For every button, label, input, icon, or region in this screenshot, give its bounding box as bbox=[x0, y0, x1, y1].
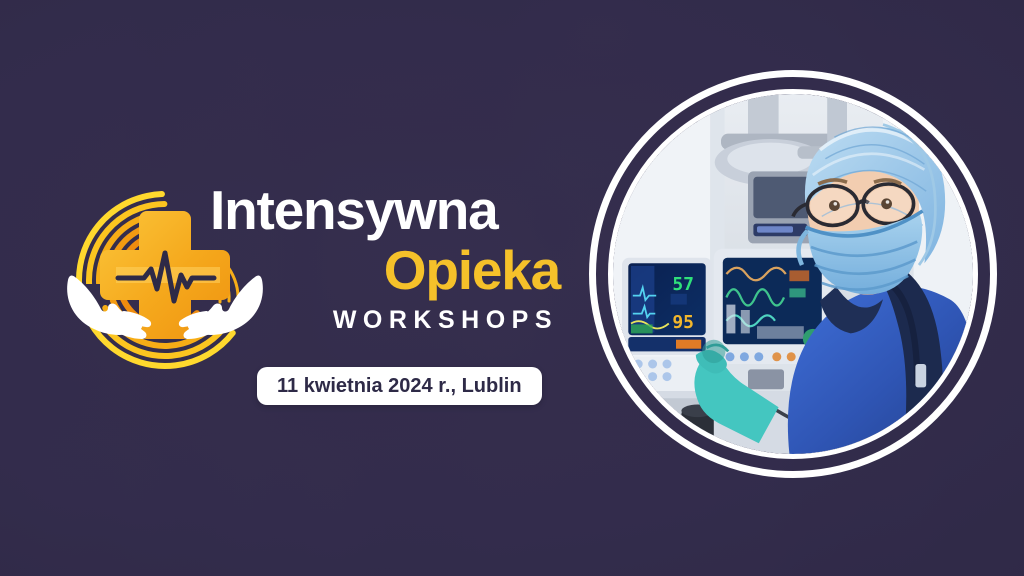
photo-medallion-outer-ring: 57 95 bbox=[589, 70, 997, 478]
svg-text:57: 57 bbox=[672, 274, 694, 295]
event-banner: Intensywna Opieka WORKSHOPS 11 kwietnia … bbox=[0, 0, 1024, 576]
page-title-line-2: Opieka bbox=[210, 242, 560, 298]
icu-nurse-photo: 57 95 bbox=[613, 94, 973, 454]
page-title-line-1: Intensywna bbox=[210, 182, 560, 238]
headline-block: Intensywna Opieka WORKSHOPS bbox=[210, 182, 560, 335]
page-subtitle: WORKSHOPS bbox=[210, 306, 560, 335]
date-location-badge: 11 kwietnia 2024 r., Lublin bbox=[257, 367, 542, 405]
date-location-text: 11 kwietnia 2024 r., Lublin bbox=[277, 375, 522, 398]
photo-medallion-inner-ring: 57 95 bbox=[608, 89, 978, 459]
svg-text:95: 95 bbox=[672, 312, 694, 333]
